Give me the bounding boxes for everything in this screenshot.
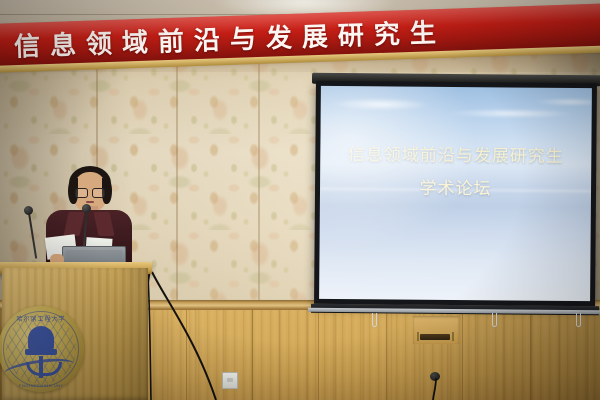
rail-hook (492, 313, 497, 327)
glasses-icon (75, 188, 105, 196)
wall-outlet (222, 372, 238, 389)
rail-hook (576, 313, 581, 327)
round-wall-fixture (430, 372, 440, 381)
niche-pin (452, 332, 454, 341)
niche-pin (417, 332, 419, 341)
niche-vent-plate (420, 334, 450, 340)
screen-glare (319, 86, 484, 258)
panel-line (462, 310, 463, 400)
lecture-hall-photo: 信息领域前沿与发展研究生 信息领域前沿与发展研究生 学术论坛 (0, 0, 600, 400)
projection-screen: 信息领域前沿与发展研究生 学术论坛 (314, 81, 597, 306)
podium-shade (2, 268, 148, 400)
podium: 哈尔滨工程大学 HARBIN ENGINEERING UNIVERSITY (2, 268, 148, 400)
screen-frame: 信息领域前沿与发展研究生 学术论坛 (314, 81, 597, 306)
panel-line (318, 310, 319, 400)
panel-line (530, 310, 531, 400)
mouth (86, 201, 94, 203)
panel-line (252, 310, 253, 400)
projected-slide: 信息领域前沿与发展研究生 学术论坛 (319, 86, 592, 301)
panel-line (186, 310, 187, 400)
rail-hook (372, 313, 377, 327)
panel-line (386, 310, 387, 400)
